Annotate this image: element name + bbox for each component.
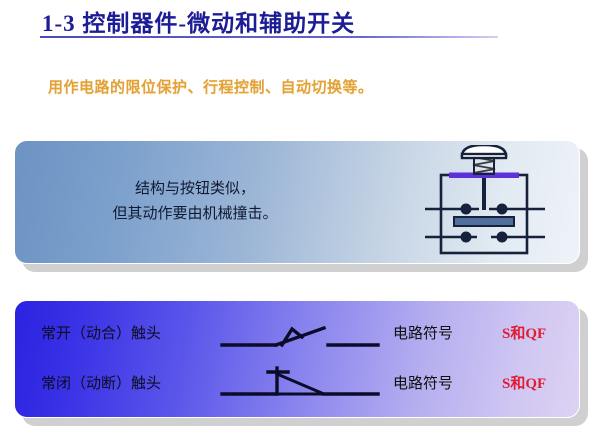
nc-symbol-svg [220, 360, 380, 410]
circuit-symbol-note: 电路符号 [393, 372, 453, 393]
micro-switch-diagram [419, 145, 555, 261]
title-underline [40, 36, 498, 38]
page-title: 1-3 控制器件-微动和辅助开关 [42, 4, 355, 38]
table-row: 常开（动合）触头 电路符号 S和QF [15, 310, 581, 360]
button-cap [462, 145, 506, 158]
circuit-symbol-note: 电路符号 [393, 322, 453, 343]
lower-contact-left [461, 232, 472, 243]
description-line-1: 结构与按钮类似， [45, 177, 345, 202]
normally-closed-contact-symbol [220, 360, 380, 410]
subtitle-text: 用作电路的限位保护、行程控制、自动切换等。 [48, 76, 374, 97]
panel-description: 结构与按钮类似， 但其动作要由机械撞击。 [14, 140, 580, 264]
upper-contact-left [461, 204, 472, 215]
contact-type-label: 常开（动合）触头 [41, 322, 236, 343]
upper-contact-right [497, 204, 508, 215]
slide-root: 1-3 控制器件-微动和辅助开关 用作电路的限位保护、行程控制、自动切换等。 结… [0, 0, 601, 444]
panel-symbols: 常开（动合）触头 电路符号 S和QF 常闭（动断）触头 [14, 300, 580, 418]
description-line-2: 但其动作要由机械撞击。 [45, 202, 345, 227]
device-code: S和QF [502, 372, 546, 393]
micro-switch-svg [419, 145, 555, 261]
no-symbol-svg [220, 310, 380, 360]
panel-description-text: 结构与按钮类似， 但其动作要由机械撞击。 [45, 177, 345, 227]
contact-type-label: 常闭（动断）触头 [41, 372, 236, 393]
plunger-stem [482, 178, 486, 210]
table-row: 常闭（动断）触头 电路符号 S和QF [15, 360, 581, 410]
moving-contact-bridge [454, 217, 514, 226]
lower-contact-right [497, 232, 508, 243]
normally-open-contact-symbol [220, 310, 380, 360]
device-code: S和QF [502, 322, 546, 343]
